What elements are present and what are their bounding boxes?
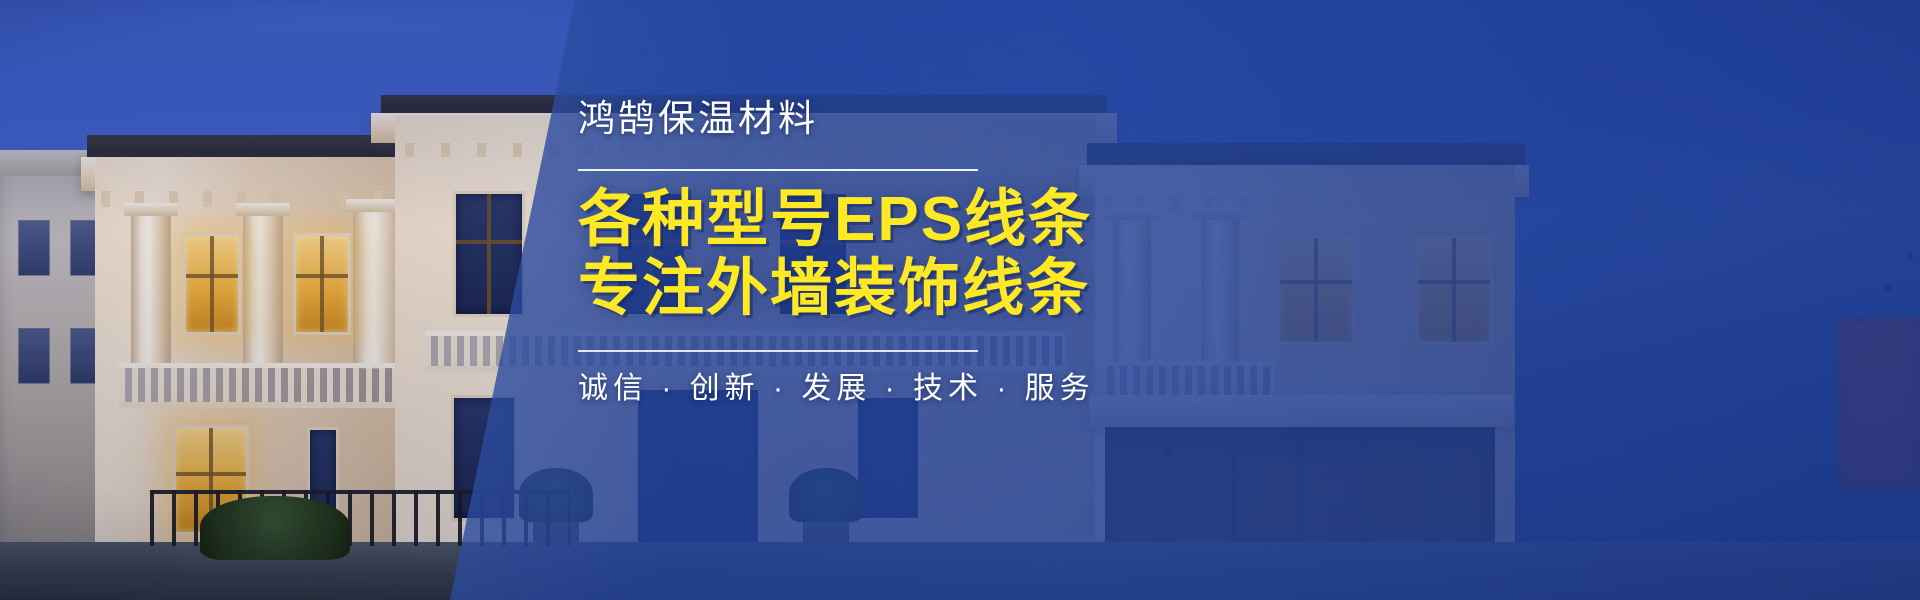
tagline: 诚信 · 创新 · 发展 · 技术 · 服务 (578, 374, 1478, 404)
divider-above-tagline (578, 350, 978, 352)
divider-above-headline (578, 169, 978, 171)
headline-line-1: 各种型号EPS线条 (578, 185, 1478, 254)
banner-copy: 鸿鹄保温材料 各种型号EPS线条 专注外墙装饰线条 诚信 · 创新 · 发展 ·… (578, 100, 1478, 404)
headline-line-2: 专注外墙装饰线条 (578, 254, 1478, 323)
headline: 各种型号EPS线条 专注外墙装饰线条 (578, 185, 1478, 324)
brand-name: 鸿鹄保温材料 (578, 100, 1478, 137)
hero-banner: 鸿鹄保温材料 各种型号EPS线条 专注外墙装饰线条 诚信 · 创新 · 发展 ·… (0, 0, 1920, 600)
